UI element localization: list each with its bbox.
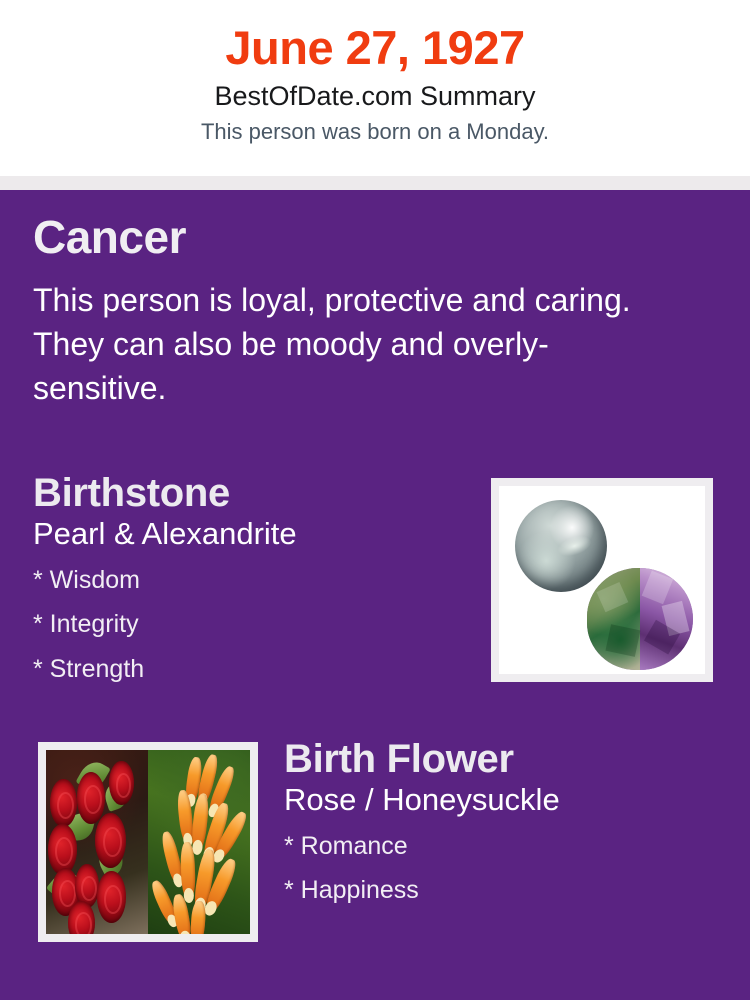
birthstone-photo-inner [499,486,705,674]
birthstone-image [491,478,713,682]
header-divider [0,176,750,190]
list-item: * Romance [284,824,724,869]
alexandrite-icon [587,568,693,670]
birth-flower-photo-inner [46,750,250,934]
list-item: * Happiness [284,868,724,913]
rose-icon [77,772,106,824]
zodiac-description: This person is loyal, protective and car… [33,278,643,410]
card-header: June 27, 1927 BestOfDate.com Summary Thi… [0,0,750,176]
birthstone-trait-list: * Wisdom * Integrity * Strength [33,552,463,692]
roses-photo-half [46,750,148,934]
birthstone-section: Birthstone Pearl & Alexandrite * Wisdom … [33,472,463,691]
page-title: June 27, 1927 [0,0,750,75]
list-item: * Wisdom [33,558,463,603]
birthstone-name: Pearl & Alexandrite [33,514,463,551]
site-summary-label: BestOfDate.com Summary [0,75,750,112]
list-item: * Integrity [33,602,463,647]
birth-flower-heading: Birth Flower [284,738,724,780]
honeysuckle-photo-half [148,750,250,934]
birthstone-heading: Birthstone [33,472,463,514]
list-item: * Strength [33,647,463,692]
honeysuckle-tube-icon [189,900,206,934]
birth-flower-trait-list: * Romance * Happiness [284,818,724,913]
rose-icon [95,813,126,868]
birth-flower-name: Rose / Honeysuckle [284,780,724,817]
zodiac-sign-name: Cancer [33,214,186,260]
rose-icon [50,779,77,827]
rose-icon [97,871,126,923]
birthday-summary-card: June 27, 1927 BestOfDate.com Summary Thi… [0,0,750,1000]
birth-flower-image [38,742,258,942]
born-day-label: This person was born on a Monday. [0,112,750,145]
birth-flower-section: Birth Flower Rose / Honeysuckle * Romanc… [284,738,724,913]
rose-icon [109,761,133,805]
